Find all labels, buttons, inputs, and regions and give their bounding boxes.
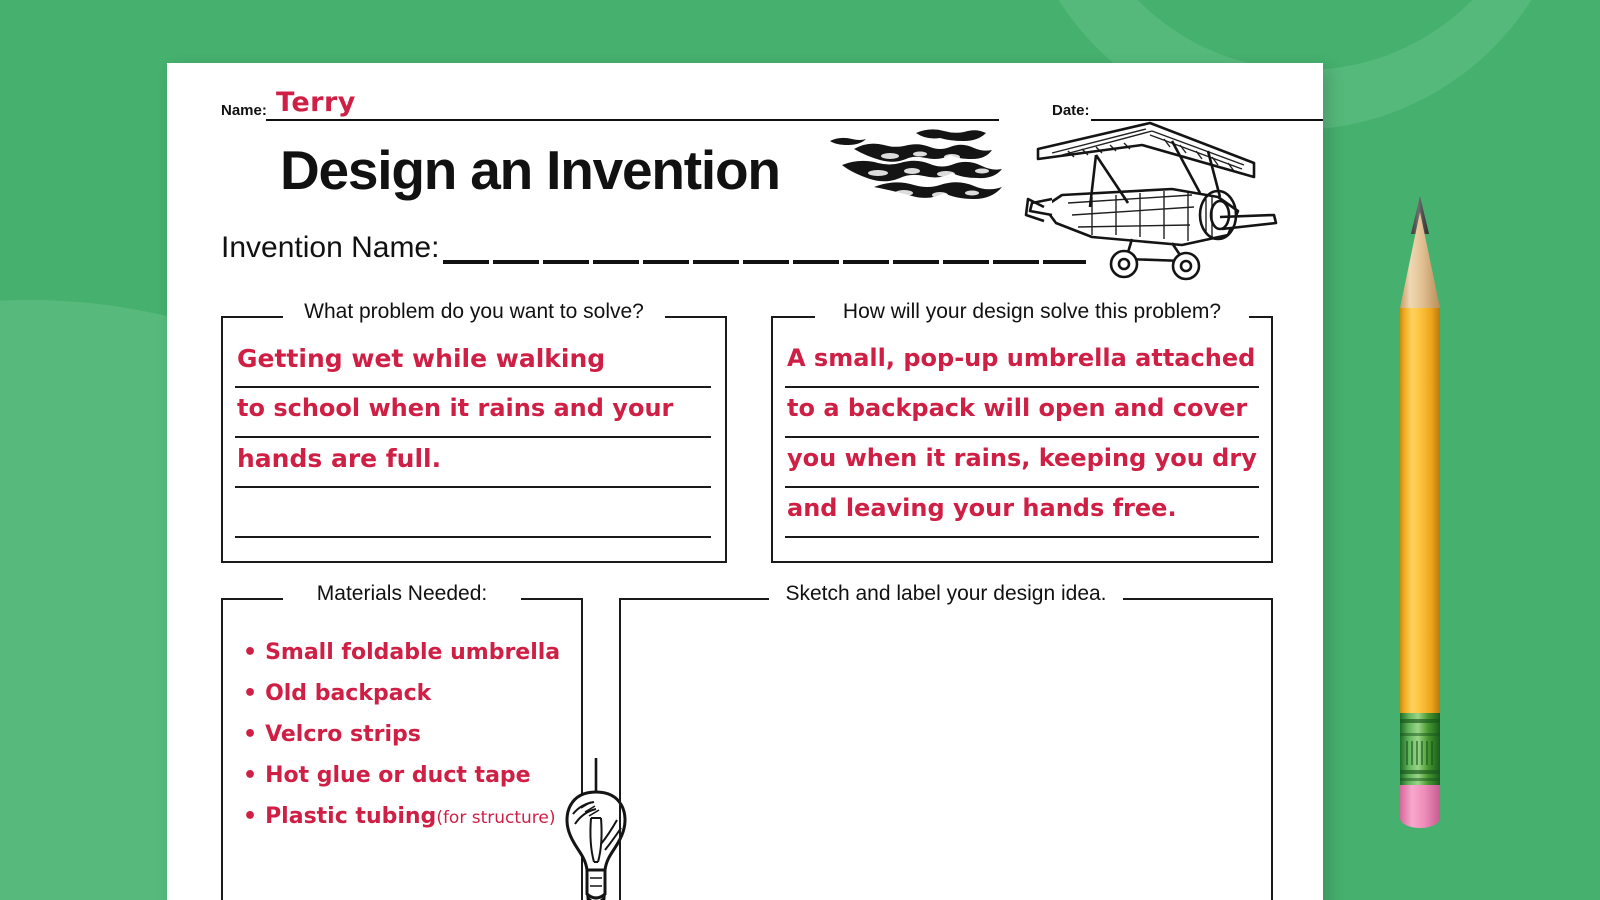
bullet-icon: •: [243, 763, 257, 788]
problem-box-legend: What problem do you want to solve?: [283, 300, 665, 324]
materials-list-item[interactable]: •Plastic tubing(for structure): [243, 804, 556, 829]
solution-rule-4: [785, 536, 1259, 538]
clouds-illustration: [812, 121, 1022, 216]
solution-rule-2: [785, 436, 1259, 438]
sketch-box-top-right-rule: [1123, 598, 1273, 600]
problem-rule-4: [235, 536, 711, 538]
solution-box-legend: How will your design solve this problem?: [815, 300, 1249, 324]
materials-item-text: Plastic tubing: [265, 804, 436, 829]
solution-box-top-right-rule: [1249, 316, 1273, 318]
invention-name-label: Invention Name:: [221, 231, 439, 265]
bullet-icon: •: [243, 804, 257, 829]
materials-box-top-left-rule: [221, 598, 283, 600]
name-input[interactable]: Terry: [276, 87, 356, 118]
problem-answer-line-2[interactable]: to school when it rains and your: [237, 394, 673, 422]
materials-box-legend: Materials Needed:: [283, 582, 521, 606]
sketch-box[interactable]: Sketch and label your design idea.: [619, 598, 1273, 900]
materials-item-text: Velcro strips: [265, 722, 421, 747]
materials-item-text: Hot glue or duct tape: [265, 763, 531, 788]
problem-answer-line-3[interactable]: hands are full.: [237, 444, 441, 473]
problem-rule-2: [235, 436, 711, 438]
page-title: Design an Invention: [280, 138, 780, 202]
problem-rule-1: [235, 386, 711, 388]
bullet-icon: •: [243, 681, 257, 706]
bullet-icon: •: [243, 640, 257, 665]
solution-rule-1: [785, 386, 1259, 388]
problem-box: What problem do you want to solve? Getti…: [221, 316, 727, 563]
solution-answer-line-2[interactable]: to a backpack will open and cover: [787, 394, 1247, 422]
materials-list-item[interactable]: •Old backpack: [243, 681, 431, 706]
problem-answer-line-1[interactable]: Getting wet while walking: [237, 344, 605, 373]
materials-list-item[interactable]: •Velcro strips: [243, 722, 421, 747]
materials-list-item[interactable]: •Hot glue or duct tape: [243, 763, 531, 788]
solution-box-top-left-rule: [771, 316, 815, 318]
problem-box-top-right-rule: [665, 316, 727, 318]
solution-answer-line-4[interactable]: and leaving your hands free.: [787, 494, 1177, 522]
materials-list-item[interactable]: •Small foldable umbrella: [243, 640, 560, 665]
solution-answer-line-1[interactable]: A small, pop-up umbrella attached: [787, 344, 1255, 372]
materials-item-note: (for structure): [436, 808, 555, 828]
sketch-box-legend: Sketch and label your design idea.: [769, 582, 1123, 606]
problem-box-top-left-rule: [221, 316, 283, 318]
materials-item-text: Old backpack: [265, 681, 431, 706]
problem-rule-3: [235, 486, 711, 488]
sketch-box-top-left-rule: [619, 598, 769, 600]
solution-answer-line-3[interactable]: you when it rains, keeping you dry: [787, 444, 1257, 472]
sketch-box-frame: [619, 598, 1273, 900]
bullet-icon: •: [243, 722, 257, 747]
materials-item-text: Small foldable umbrella: [265, 640, 560, 665]
materials-box-top-right-rule: [521, 598, 583, 600]
invention-name-input[interactable]: [443, 260, 1086, 264]
name-label: Name:: [221, 102, 267, 119]
pencil-illustration: [1396, 196, 1444, 830]
biplane-illustration: [1022, 111, 1282, 281]
solution-rule-3: [785, 486, 1259, 488]
worksheet-page: Name: Terry Date: Design an Invention: [167, 63, 1323, 900]
materials-box: Materials Needed: •Small foldable umbrel…: [221, 598, 583, 900]
solution-box: How will your design solve this problem?…: [771, 316, 1273, 563]
